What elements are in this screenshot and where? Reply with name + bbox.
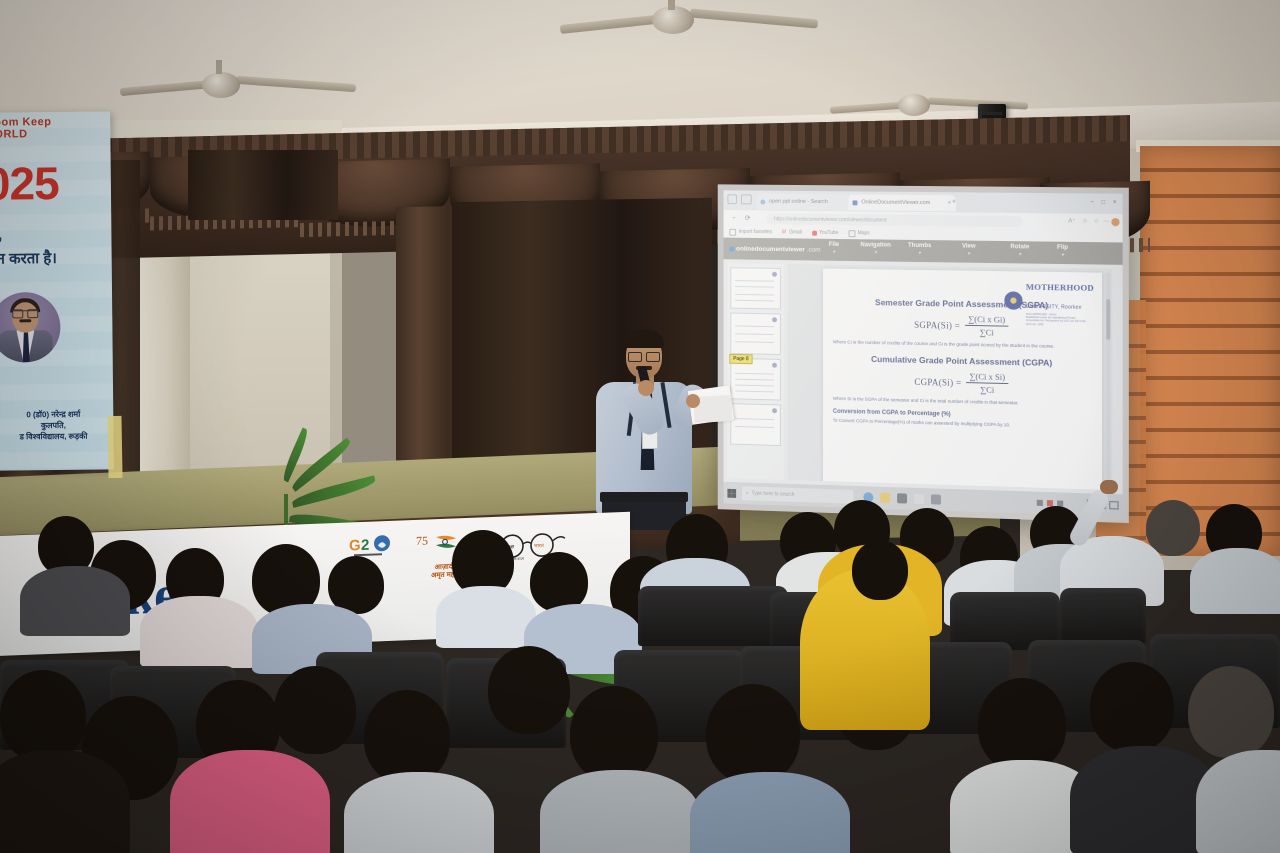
presenter-left-hand [638,380,654,396]
audience-torso [140,596,258,668]
presenter-right-hand [686,394,700,408]
audience-head [530,552,588,612]
audience-head [274,666,356,754]
audience-torso [690,772,850,853]
audience-head [1188,666,1274,758]
audience [0,500,1280,853]
audience-torso [1196,750,1280,853]
chair [1060,588,1146,644]
audience-head [1090,662,1174,752]
audience-head [852,540,908,600]
audience-torso [540,770,700,853]
audience-torso [436,586,536,648]
audience-torso [1190,548,1280,614]
audience-raised-hand [1100,480,1118,494]
audience-torso [170,750,330,853]
audience-torso [344,772,494,853]
presenter-hair [624,330,664,348]
audience-head [488,646,570,734]
audience-torso [20,566,130,636]
presenter-glasses-icon [628,352,660,360]
audience-head [364,690,450,784]
audience-head [0,670,86,762]
audience-torso [0,750,130,853]
audience-head [706,684,800,784]
seminar-hall-photo: oom Keep ORLD 025 य, ंदन करता है। 0 (डॉ0… [0,0,1280,853]
chair [638,586,788,646]
audience-head [570,686,658,782]
audience-head [978,678,1066,772]
